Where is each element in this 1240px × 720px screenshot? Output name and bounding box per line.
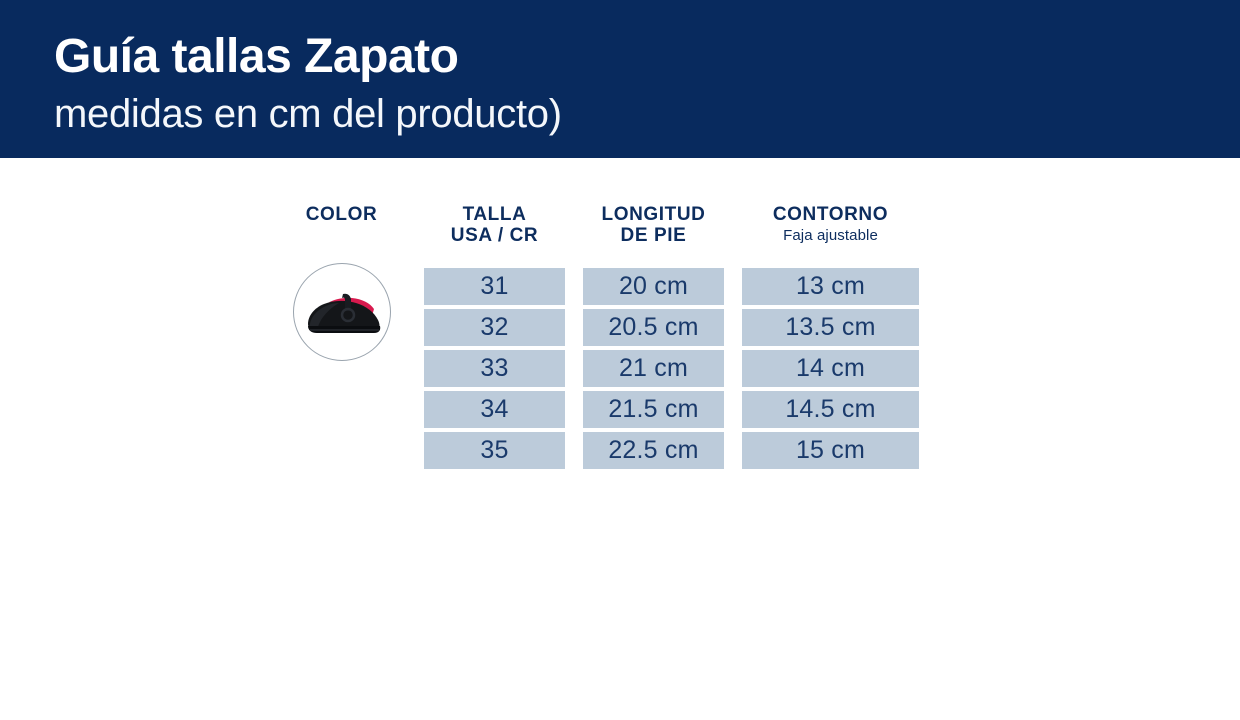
- column-header-talla: TALLA USA / CR: [424, 204, 565, 247]
- table-cell-longitud: 22.5 cm: [583, 432, 724, 469]
- table-cell-longitud: 20 cm: [583, 268, 724, 305]
- table-cell-talla: 35: [424, 432, 565, 469]
- column-header-contorno-subtitle: Faja ajustable: [742, 228, 919, 245]
- column-talla-values: 31 32 33 34 35: [424, 268, 565, 473]
- table-cell-talla: 34: [424, 391, 565, 428]
- table-cell-talla: 32: [424, 309, 565, 346]
- column-longitud-values: 20 cm 20.5 cm 21 cm 21.5 cm 22.5 cm: [583, 268, 724, 473]
- color-swatch: [293, 263, 391, 361]
- table-cell-longitud: 21.5 cm: [583, 391, 724, 428]
- table-cell-contorno: 13 cm: [742, 268, 919, 305]
- column-header-color-label: COLOR: [293, 204, 390, 225]
- table-cell-longitud: 20.5 cm: [583, 309, 724, 346]
- column-contorno-values: 13 cm 13.5 cm 14 cm 14.5 cm 15 cm: [742, 268, 919, 473]
- table-cell-talla: 33: [424, 350, 565, 387]
- page-subtitle: medidas en cm del producto): [54, 94, 562, 134]
- table-cell-longitud: 21 cm: [583, 350, 724, 387]
- table-cell-talla: 31: [424, 268, 565, 305]
- page-title: Guía tallas Zapato: [54, 33, 458, 81]
- shoe-icon: [294, 264, 390, 360]
- table-cell-contorno: 14 cm: [742, 350, 919, 387]
- table-cell-contorno: 13.5 cm: [742, 309, 919, 346]
- column-header-talla-line2: USA / CR: [424, 225, 565, 246]
- column-header-color: COLOR: [293, 204, 390, 225]
- table-cell-contorno: 14.5 cm: [742, 391, 919, 428]
- header-banner: Guía tallas Zapato medidas en cm del pro…: [0, 0, 1240, 158]
- column-header-talla-line1: TALLA: [424, 204, 565, 225]
- size-guide-table: COLOR TALLA USA / CR LONGITUD DE PIE CON…: [0, 158, 1240, 720]
- column-header-longitud-line1: LONGITUD: [583, 204, 724, 225]
- column-header-contorno: CONTORNO Faja ajustable: [742, 204, 919, 245]
- column-header-longitud: LONGITUD DE PIE: [583, 204, 724, 247]
- column-header-contorno-label: CONTORNO: [742, 204, 919, 225]
- table-cell-contorno: 15 cm: [742, 432, 919, 469]
- column-header-longitud-line2: DE PIE: [583, 225, 724, 246]
